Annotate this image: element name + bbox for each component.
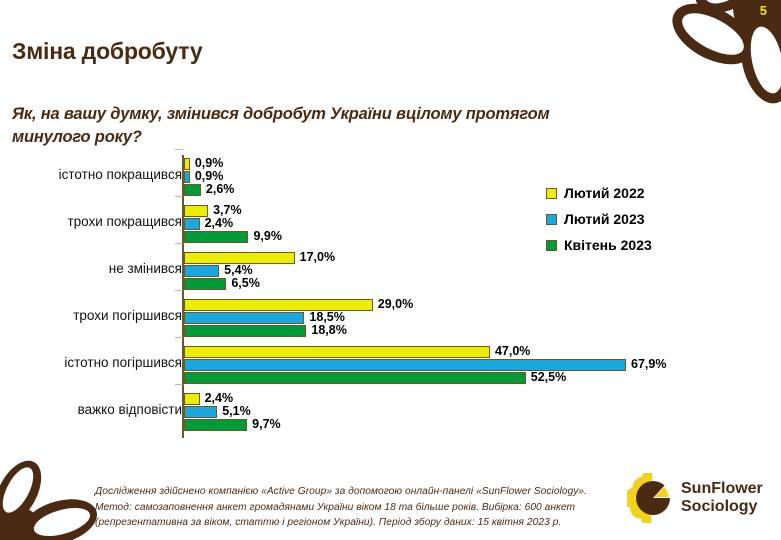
bar-2 (184, 184, 201, 196)
axis-tick (175, 290, 183, 291)
bar-value-label: 9,9% (253, 230, 282, 242)
bar-value-label: 2,4% (205, 217, 234, 229)
legend-label: Лютий 2023 (564, 211, 645, 227)
bar-2 (184, 278, 226, 290)
legend-swatch-icon (546, 240, 557, 251)
bar-1 (184, 171, 190, 183)
axis-tick (175, 384, 183, 385)
axis-tick (175, 337, 183, 338)
category-label: не змінився (0, 262, 182, 277)
bar-value-label: 0,9% (195, 157, 224, 169)
bar-value-label: 52,5% (531, 371, 566, 383)
category-label: трохи погіршився (0, 309, 182, 324)
bar-value-label: 18,5% (309, 311, 344, 323)
category-label: істотно покращився (0, 168, 182, 183)
axis-tick (175, 243, 183, 244)
chart-legend: Лютий 2022Лютий 2023Квітень 2023 (546, 180, 652, 258)
bar-0 (184, 393, 200, 405)
bar-value-label: 2,4% (205, 392, 234, 404)
bar-chart: істотно покращився0,9%0,9%2,6%трохи покр… (0, 150, 781, 445)
category-label: трохи покращився (0, 215, 182, 230)
bar-2 (184, 419, 247, 431)
axis-tick (175, 149, 183, 150)
bar-value-label: 0,9% (195, 170, 224, 182)
legend-swatch-icon (546, 188, 557, 199)
bar-value-label: 67,9% (631, 358, 666, 370)
page-title: Зміна добробуту (12, 39, 202, 64)
legend-item[interactable]: Лютий 2023 (546, 206, 652, 232)
bar-value-label: 17,0% (300, 251, 335, 263)
methodology-note: Дослідження здійснено компанією «Active … (95, 484, 615, 531)
page-number: 5 (760, 4, 767, 17)
bar-value-label: 6,5% (231, 277, 260, 289)
bar-value-label: 2,6% (206, 183, 235, 195)
bar-1 (184, 312, 304, 324)
bar-2 (184, 372, 526, 384)
sunflower-logo-icon (627, 473, 677, 523)
axis-tick (175, 196, 183, 197)
sunflower-decoration-top-right (617, 0, 781, 118)
category-label: істотно погіршився (0, 356, 182, 371)
category-label: важко відповісти (0, 403, 182, 418)
legend-item[interactable]: Квітень 2023 (546, 232, 652, 258)
bar-value-label: 3,7% (213, 204, 242, 216)
bar-0 (184, 158, 190, 170)
slide: 5 Зміна добробуту Як, на вашу думку, змі… (0, 0, 781, 540)
sunflower-sociology-logo: SunFlower Sociology (627, 470, 775, 526)
logo-wordmark: SunFlower Sociology (681, 480, 763, 516)
sunflower-decoration-bottom-left (0, 450, 106, 540)
bar-1 (184, 265, 219, 277)
legend-label: Квітень 2023 (564, 237, 652, 253)
bar-2 (184, 325, 306, 337)
bar-value-label: 18,8% (311, 324, 346, 336)
bar-value-label: 5,1% (222, 405, 251, 417)
logo-line-1: SunFlower (681, 480, 763, 498)
legend-item[interactable]: Лютий 2022 (546, 180, 652, 206)
bar-value-label: 5,4% (224, 264, 253, 276)
bar-1 (184, 218, 200, 230)
page-subtitle: Як, на вашу думку, змінився добробут Укр… (12, 103, 632, 150)
bar-value-label: 29,0% (378, 298, 413, 310)
bar-0 (184, 346, 490, 358)
bar-2 (184, 231, 248, 243)
bar-value-label: 47,0% (495, 345, 530, 357)
bar-value-label: 9,7% (252, 418, 281, 430)
legend-swatch-icon (546, 214, 557, 225)
bar-1 (184, 406, 217, 418)
logo-line-2: Sociology (681, 498, 763, 516)
legend-label: Лютий 2022 (564, 185, 645, 201)
